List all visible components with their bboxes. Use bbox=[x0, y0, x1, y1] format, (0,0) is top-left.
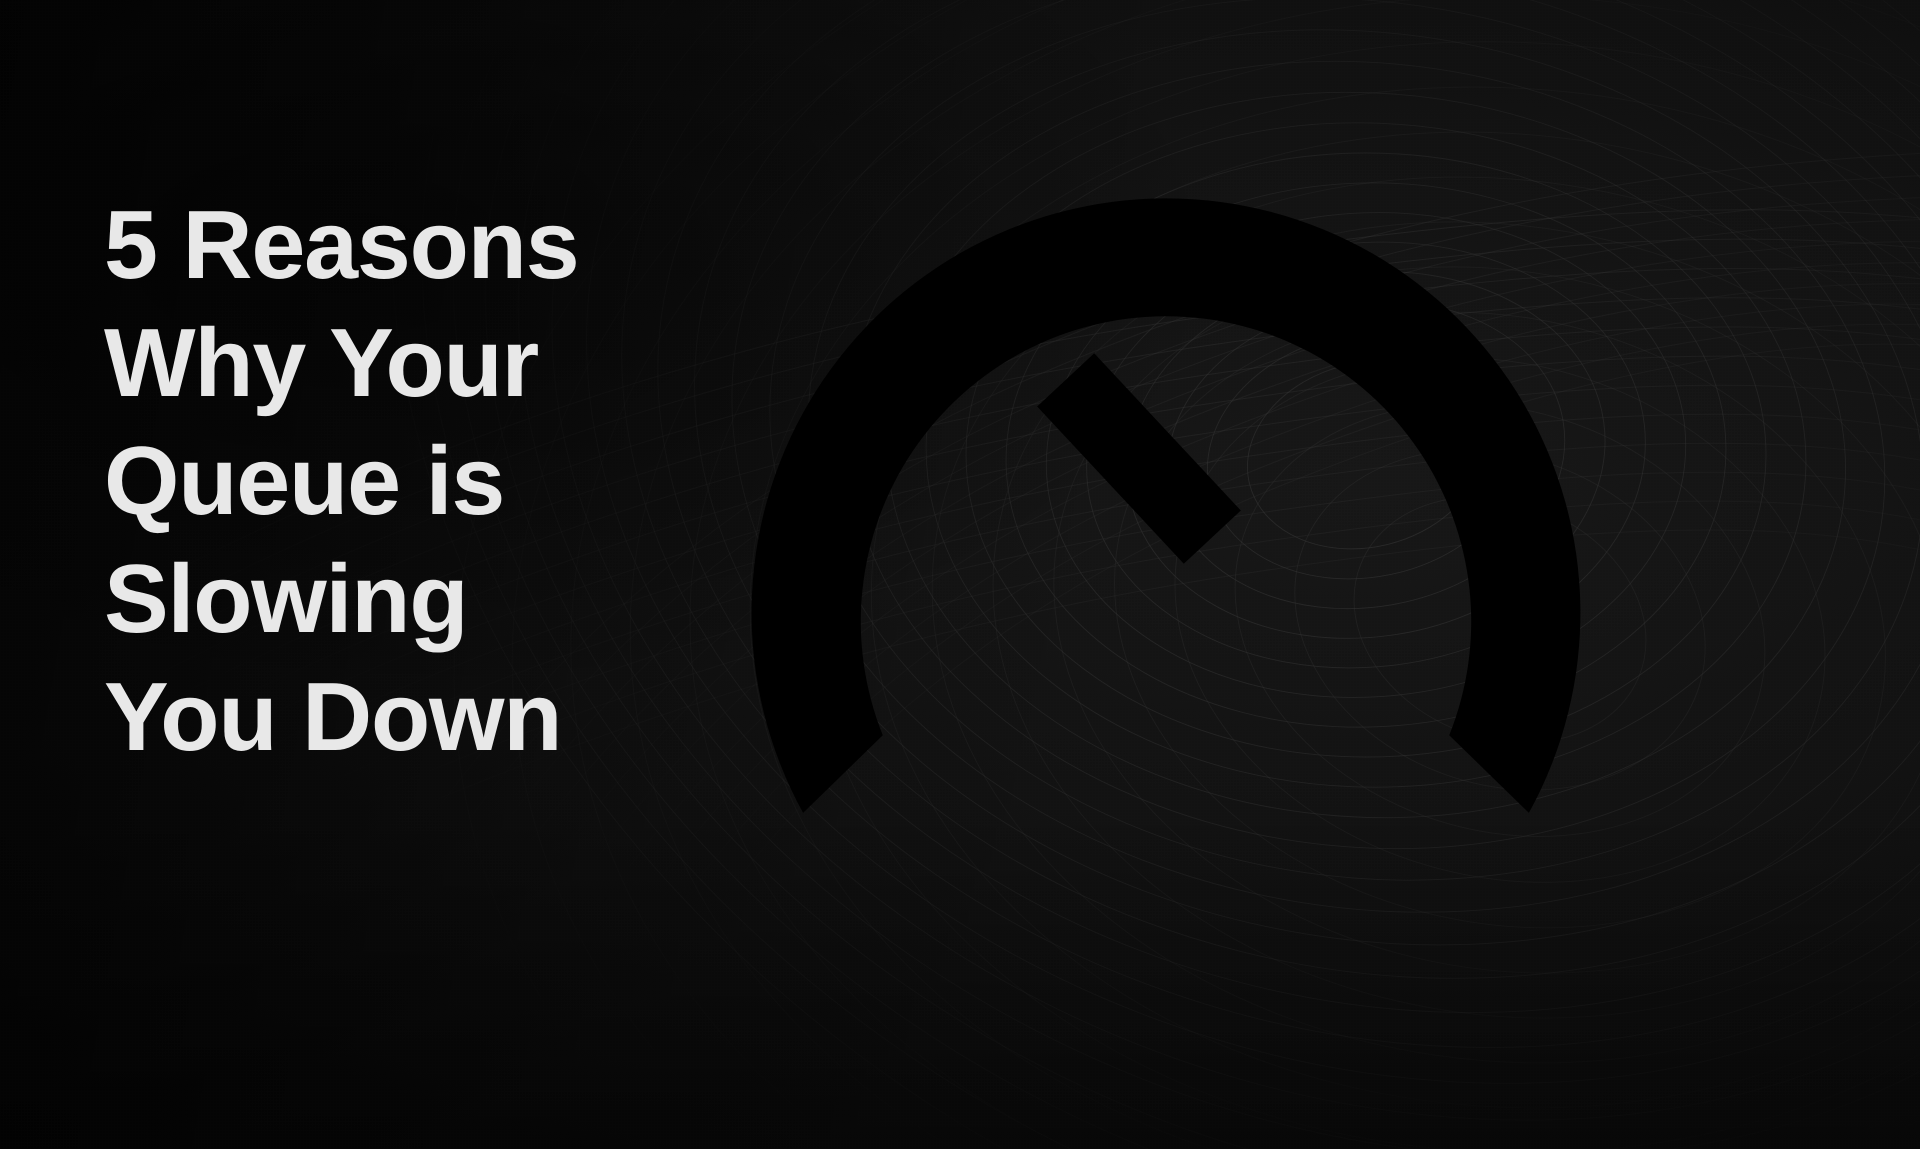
page-title: 5 Reasons Why Your Queue is Slowing You … bbox=[104, 186, 724, 776]
title-card: 5 Reasons Why Your Queue is Slowing You … bbox=[0, 0, 1920, 1149]
